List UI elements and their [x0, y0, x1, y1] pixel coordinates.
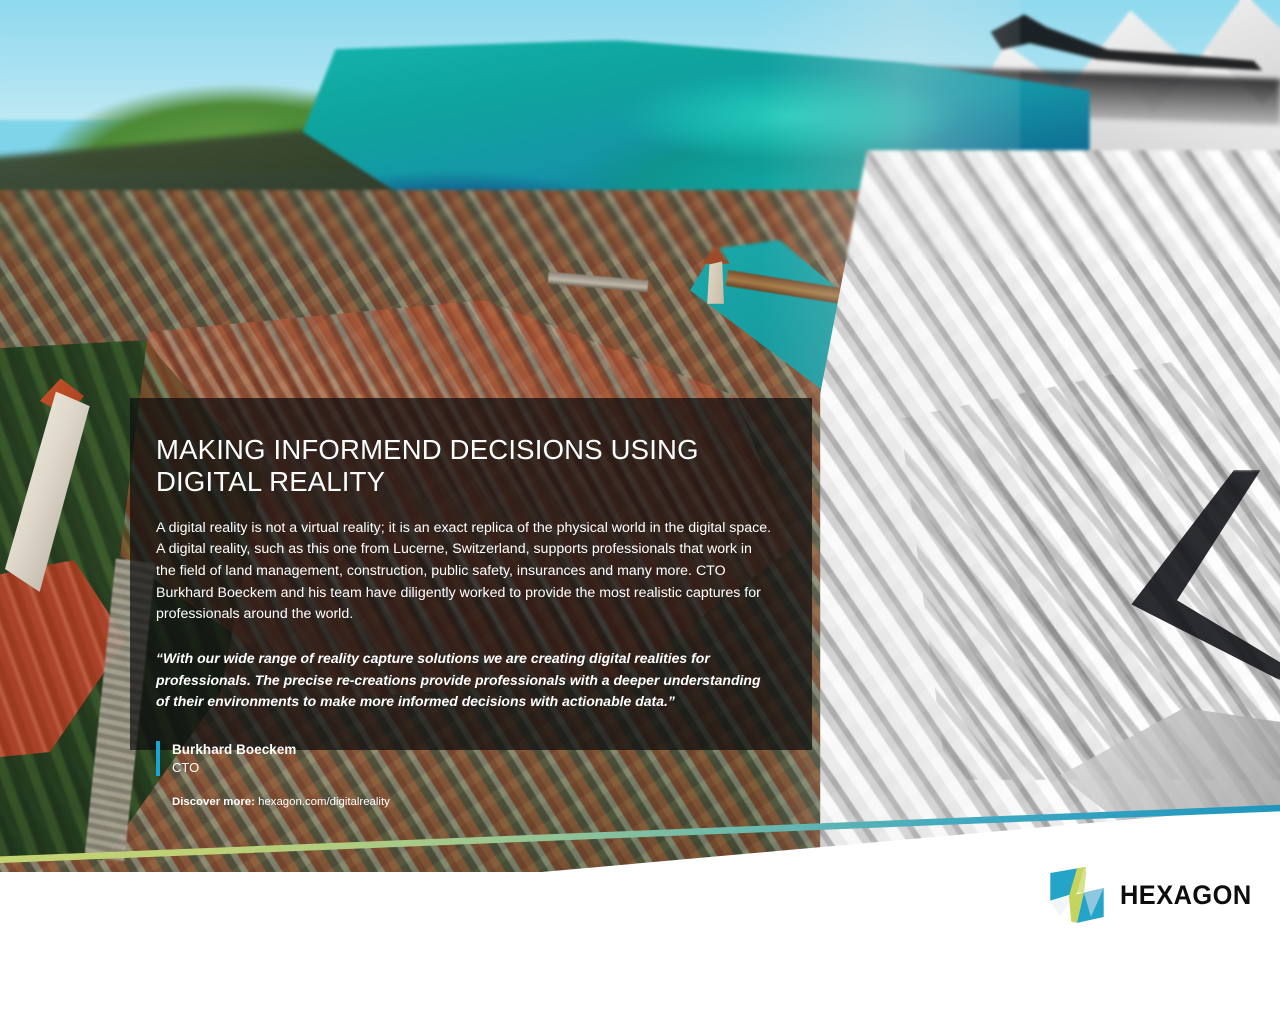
body-paragraph: A digital reality is not a virtual reali…: [156, 518, 772, 626]
quote-attribution: Burkhard Boeckem CTO: [156, 741, 772, 776]
attribution-name: Burkhard Boeckem: [172, 741, 296, 759]
content-overlay-panel: MAKING INFORMEND DECISIONS USING DIGITAL…: [130, 398, 812, 750]
hexagon-logo[interactable]: HEXAGON: [1048, 866, 1260, 924]
discover-more-url[interactable]: hexagon.com/digitalreality: [258, 796, 390, 808]
pull-quote: “With our wide range of reality capture …: [156, 648, 772, 713]
hexagon-logo-mark: [1048, 866, 1106, 924]
accent-bar: [156, 741, 160, 776]
attribution-text: Burkhard Boeckem CTO: [172, 741, 296, 776]
attribution-role: CTO: [172, 759, 296, 776]
hexagon-wordmark: HEXAGON: [1120, 880, 1252, 911]
page-title: MAKING INFORMEND DECISIONS USING DIGITAL…: [156, 434, 772, 498]
page-root: HEXAGON MAKING INFORMEND DECISIONS USING…: [0, 0, 1280, 1024]
discover-more-line[interactable]: Discover more: hexagon.com/digitalrealit…: [172, 796, 772, 808]
panel-inner: MAKING INFORMEND DECISIONS USING DIGITAL…: [156, 434, 772, 808]
discover-more-label: Discover more:: [172, 796, 255, 808]
